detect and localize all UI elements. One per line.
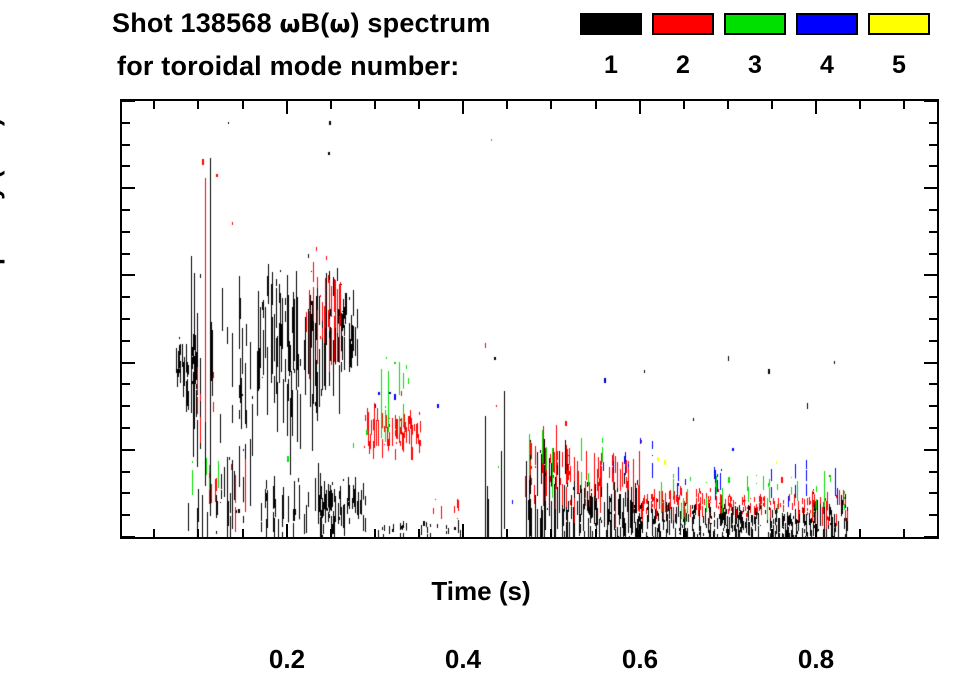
y-tick-60 — [122, 274, 135, 276]
legend-swatch-1 — [580, 13, 642, 35]
y-tick-right-85 — [929, 165, 937, 167]
y-tick-10 — [122, 492, 130, 494]
y-tick-20 — [122, 449, 135, 451]
x-tick-top-0.25 — [330, 101, 332, 109]
x-tick-top-0.80 — [815, 101, 817, 114]
x-tick-top-0.85 — [859, 101, 861, 109]
legend-item-2: 2 — [652, 13, 718, 35]
omega-symbol-2: ω — [329, 10, 350, 38]
omega-symbol-1: ω — [280, 10, 301, 38]
spectrogram-canvas — [122, 101, 937, 537]
x-tick-top-0.45 — [506, 101, 508, 109]
y-tick-right-10 — [929, 492, 937, 494]
y-tick-right-90 — [929, 144, 937, 146]
y-tick-55 — [122, 296, 130, 298]
x-tick-top-0.70 — [727, 101, 729, 109]
x-tick-0.60 — [639, 524, 641, 537]
x-tick-top-0.40 — [462, 101, 464, 114]
plot-area: 0204060801000.20.40.60.8 — [120, 99, 939, 539]
y-tick-right-5 — [929, 514, 937, 516]
x-tick-0.10 — [197, 529, 199, 537]
x-tick-top-0.55 — [595, 101, 597, 109]
legend-item-3: 3 — [724, 13, 790, 35]
legend-label-2: 2 — [652, 51, 714, 80]
y-tick-70 — [122, 231, 130, 233]
x-tick-0.25 — [330, 529, 332, 537]
x-tick-top-0.35 — [418, 101, 420, 109]
y-tick-35 — [122, 383, 130, 385]
x-tick-label-0.4: 0.4 — [423, 644, 503, 675]
x-tick-0.55 — [595, 529, 597, 537]
legend-swatch-5 — [868, 13, 930, 35]
y-tick-50 — [122, 318, 130, 320]
x-tick-top-0.05 — [153, 101, 155, 109]
y-tick-40 — [122, 362, 135, 364]
x-tick-label-0.8: 0.8 — [776, 644, 856, 675]
figure-title-line-1: Shot 138568 ωB(ω) spectrum — [112, 8, 491, 39]
x-tick-0.05 — [153, 529, 155, 537]
y-tick-right-25 — [929, 427, 937, 429]
y-tick-65 — [122, 253, 130, 255]
x-tick-0.40 — [462, 524, 464, 537]
x-tick-top-0.50 — [550, 101, 552, 109]
x-tick-top-0.65 — [683, 101, 685, 109]
x-tick-top-0.60 — [639, 101, 641, 114]
y-tick-right-75 — [929, 209, 937, 211]
y-tick-85 — [122, 165, 130, 167]
x-tick-top-0.10 — [197, 101, 199, 109]
x-tick-0.50 — [550, 529, 552, 537]
y-tick-right-30 — [929, 405, 937, 407]
y-axis-title: Frequency (kHz) — [0, 118, 7, 312]
x-tick-top-0.30 — [374, 101, 376, 109]
y-tick-right-65 — [929, 253, 937, 255]
y-tick-100 — [122, 100, 135, 102]
y-tick-right-70 — [929, 231, 937, 233]
y-tick-right-95 — [929, 122, 937, 124]
x-tick-0.85 — [859, 529, 861, 537]
legend-swatch-2 — [652, 13, 714, 35]
x-tick-0.80 — [815, 524, 817, 537]
x-tick-0.70 — [727, 529, 729, 537]
y-tick-45 — [122, 340, 130, 342]
y-tick-right-35 — [929, 383, 937, 385]
y-tick-right-60 — [924, 274, 937, 276]
title-b-text: B( — [301, 8, 330, 38]
y-tick-75 — [122, 209, 130, 211]
y-tick-right-40 — [924, 362, 937, 364]
x-tick-0.30 — [374, 529, 376, 537]
x-tick-0.65 — [683, 529, 685, 537]
legend-swatch-4 — [796, 13, 858, 35]
legend-item-4: 4 — [796, 13, 862, 35]
y-tick-15 — [122, 471, 130, 473]
x-tick-top-0.15 — [242, 101, 244, 109]
x-tick-label-0.2: 0.2 — [247, 644, 327, 675]
y-tick-right-55 — [929, 296, 937, 298]
y-tick-right-80 — [924, 187, 937, 189]
legend-label-4: 4 — [796, 51, 858, 80]
legend-item-5: 5 — [868, 13, 934, 35]
x-tick-top-0.20 — [286, 101, 288, 114]
x-tick-0.90 — [903, 529, 905, 537]
y-tick-95 — [122, 122, 130, 124]
x-axis-title: Time (s) — [431, 576, 530, 607]
y-tick-right-100 — [924, 100, 937, 102]
y-tick-90 — [122, 144, 130, 146]
x-tick-top-0.90 — [903, 101, 905, 109]
legend-label-1: 1 — [580, 51, 642, 80]
title-spectrum-text: ) spectrum — [351, 8, 491, 38]
y-tick-0 — [122, 536, 135, 538]
y-tick-25 — [122, 427, 130, 429]
figure-title-line-2: for toroidal mode number: — [117, 51, 460, 82]
title-shot-text: Shot 138568 — [112, 8, 280, 38]
spectrogram-figure: Shot 138568 ωB(ω) spectrum for toroidal … — [0, 0, 963, 615]
y-tick-right-15 — [929, 471, 937, 473]
x-tick-label-0.6: 0.6 — [600, 644, 680, 675]
mode-number-legend: 12345 — [580, 13, 960, 88]
legend-label-5: 5 — [868, 51, 930, 80]
x-tick-0.15 — [242, 529, 244, 537]
y-tick-80 — [122, 187, 135, 189]
x-tick-top-0.75 — [771, 101, 773, 109]
y-tick-right-45 — [929, 340, 937, 342]
y-tick-5 — [122, 514, 130, 516]
x-tick-0.75 — [771, 529, 773, 537]
legend-label-3: 3 — [724, 51, 786, 80]
y-tick-right-20 — [924, 449, 937, 451]
legend-item-1: 1 — [580, 13, 646, 35]
x-tick-0.45 — [506, 529, 508, 537]
x-tick-0.20 — [286, 524, 288, 537]
x-tick-0.35 — [418, 529, 420, 537]
y-tick-30 — [122, 405, 130, 407]
legend-swatch-3 — [724, 13, 786, 35]
y-tick-right-50 — [929, 318, 937, 320]
y-tick-right-0 — [924, 536, 937, 538]
